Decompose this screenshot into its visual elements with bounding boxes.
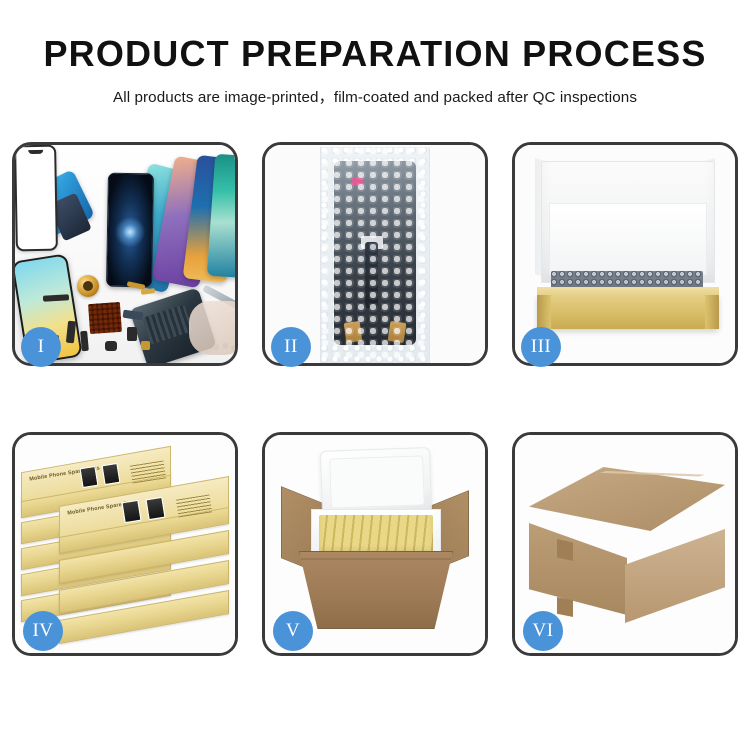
process-step-panel-6: VI [512,432,738,656]
copper-grid-component [88,302,122,334]
process-step-panel-3: III [512,142,738,366]
phone-screen-dark [106,173,154,288]
tray-corner-right [705,295,719,329]
step-badge-5: V [273,611,313,651]
tempered-glass-protector [15,145,58,251]
screen-notch [28,150,43,154]
carton-left-face [529,523,627,615]
small-part-strip [127,327,137,341]
step-badge-2: II [271,327,311,367]
step-badge-6: VI [523,611,563,651]
gold-coil-part [77,275,99,297]
small-part-strip [105,341,117,351]
bubble-texture-overlay [321,147,429,363]
page-title: PRODUCT PREPARATION PROCESS [0,34,750,74]
process-steps-grid: I II [12,142,738,656]
step-badge-3: III [521,327,561,367]
box-screen-graphic [102,463,121,485]
kraft-tray-base [537,295,719,329]
small-part-strip [141,341,150,350]
small-part-strip [80,331,89,352]
carton-tab-upper [557,539,573,561]
process-step-panel-5: V [262,432,488,656]
carton-top-face [529,467,725,531]
packed-yellow-boxes [319,515,433,553]
white-foam-sheet [549,203,707,275]
process-step-panel-1: I [12,142,238,366]
bubble-wrap-bag [320,147,430,363]
process-step-panel-4: Mobile Phone Spare Parts Mobile Phone Sp… [12,432,238,656]
page-subtitle: All products are image-printed，film-coat… [0,85,750,107]
process-step-panel-2: II [262,142,488,366]
step-badge-4: IV [23,611,63,651]
screen-swirl-graphic [115,217,146,248]
box-screen-graphic [121,500,141,523]
tray-corner-left [537,295,551,329]
small-part-strip [141,288,156,295]
product-preparation-infographic: PRODUCT PREPARATION PROCESS All products… [0,0,750,750]
hand-holding-part [189,301,235,355]
foam-cooler-lid [320,447,432,517]
carton-tab-lower [557,597,573,617]
box-screen-graphic [145,497,165,520]
carton-right-face [625,529,725,623]
carton-body [299,551,453,629]
box-screen-graphic [80,466,99,488]
small-part-strip [123,310,144,321]
step-badge-1: I [21,327,61,367]
header: PRODUCT PREPARATION PROCESS All products… [0,0,750,107]
